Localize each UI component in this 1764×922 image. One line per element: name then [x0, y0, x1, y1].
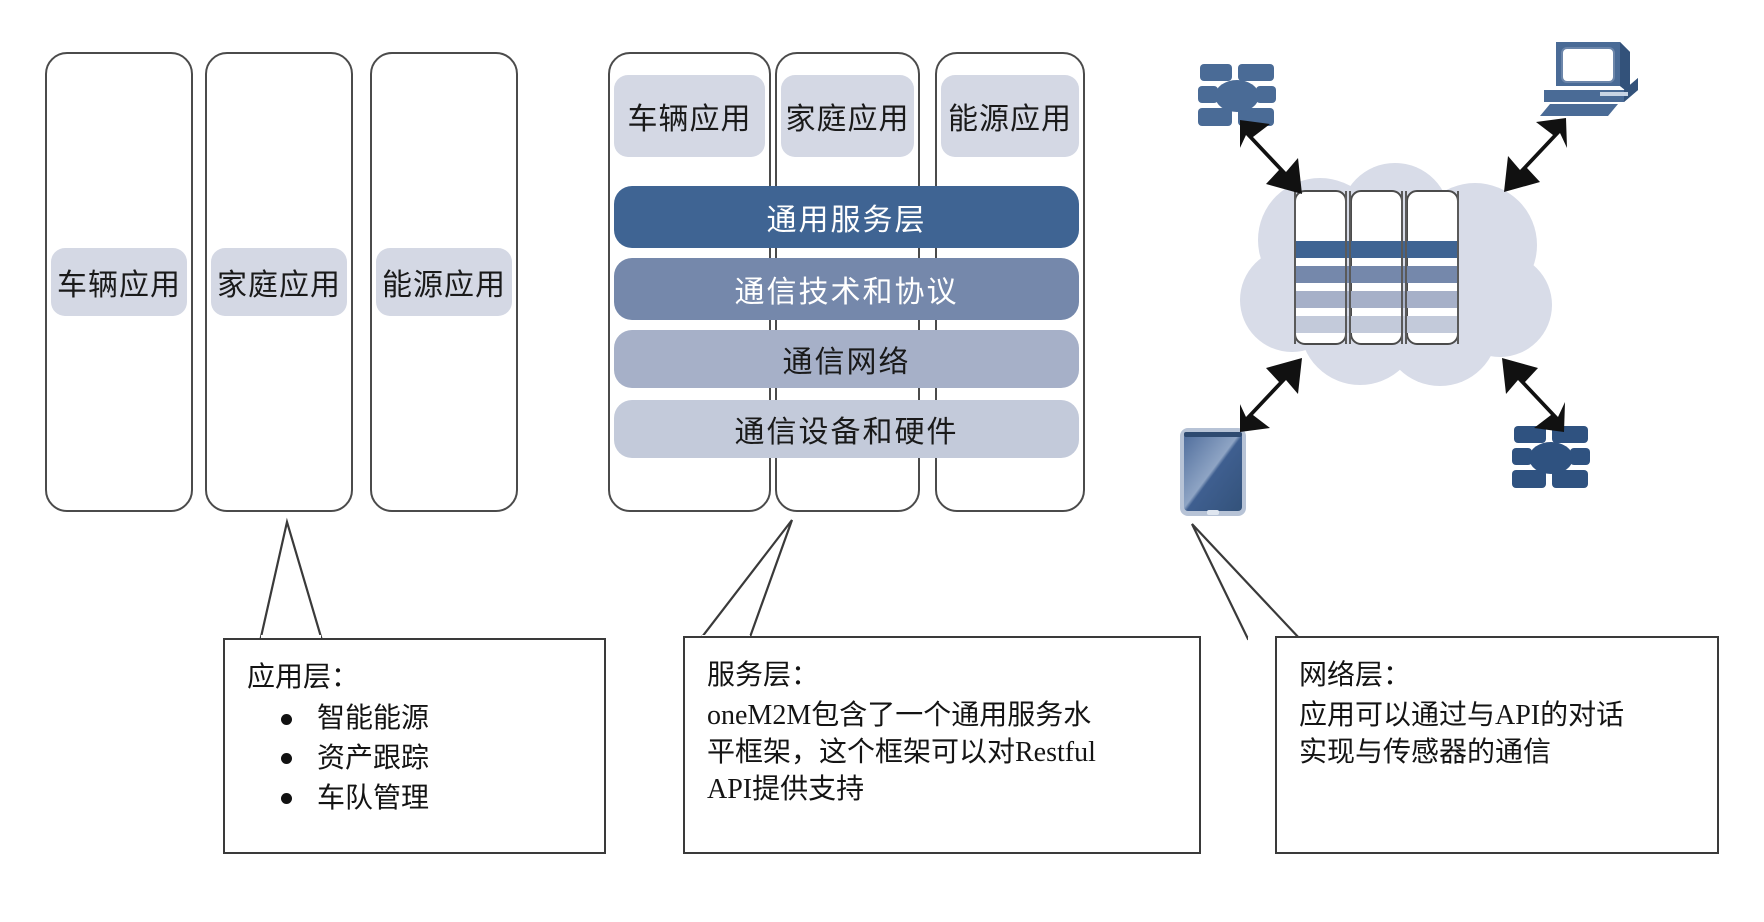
app-column-label-3: 能源应用 [376, 248, 512, 316]
mini-bar-3 [1296, 291, 1457, 308]
service-bar-4: 通信设备和硬件 [614, 400, 1079, 458]
service-bar-3: 通信网络 [614, 330, 1079, 388]
list-item: 智能能源 [281, 699, 584, 739]
arrow-topright [1470, 118, 1580, 208]
mini-column-divider-1 [1345, 191, 1347, 344]
mini-column-divider-4 [1405, 191, 1407, 344]
callout-line: API提供支持 [707, 771, 1179, 808]
mini-bar-4 [1296, 316, 1457, 333]
desktop-pc-icon [1538, 32, 1648, 132]
callout-line: 应用可以通过与API的对话 [1299, 697, 1697, 734]
app-column-label-2: 家庭应用 [211, 248, 347, 316]
mini-bar-2 [1296, 266, 1457, 283]
arrow-topleft [1240, 120, 1360, 210]
arrow-bottomright [1468, 352, 1580, 447]
callout-title: 应用层： [247, 660, 584, 695]
svc-column-label-1: 车辆应用 [614, 75, 765, 157]
arrow-bottomleft [1240, 352, 1360, 447]
callout-service-layer: 服务层： oneM2M包含了一个通用服务水 平框架，这个框架可以对Restful… [683, 636, 1201, 854]
callout-title: 服务层： [707, 658, 1179, 693]
svc-column-label-2: 家庭应用 [781, 75, 914, 157]
tablet-icon [1178, 426, 1248, 518]
diagram-canvas: 车辆应用 家庭应用 能源应用 车辆应用 家庭应用 能源应用 通用服务层 通信技术… [0, 0, 1764, 922]
service-bar-1: 通用服务层 [614, 186, 1079, 248]
callout-line: 平框架，这个框架可以对Restful [707, 734, 1179, 771]
service-bar-2: 通信技术和协议 [614, 258, 1079, 320]
callout-tail-application [200, 510, 450, 640]
callout-title: 网络层： [1299, 658, 1697, 693]
callout-tail-network [1170, 514, 1460, 642]
mini-stack-right-edge [1457, 191, 1459, 344]
mini-bar-1 [1296, 241, 1457, 258]
mini-column-divider-2 [1349, 191, 1351, 344]
list-item: 车队管理 [281, 779, 584, 819]
mini-stack-left-edge [1294, 191, 1296, 344]
callout-line: oneM2M包含了一个通用服务水 [707, 697, 1179, 734]
callout-bullet-list: 智能能源 资产跟踪 车队管理 [247, 699, 584, 818]
callout-network-layer: 网络层： 应用可以通过与API的对话 实现与传感器的通信 [1275, 636, 1719, 854]
callout-application-layer: 应用层： 智能能源 资产跟踪 车队管理 [223, 638, 606, 854]
app-column-label-1: 车辆应用 [51, 248, 187, 316]
callout-line: 实现与传感器的通信 [1299, 734, 1697, 771]
callout-tail-service [640, 508, 920, 640]
mini-column-divider-3 [1401, 191, 1403, 344]
list-item: 资产跟踪 [281, 739, 584, 779]
svc-column-label-3: 能源应用 [941, 75, 1079, 157]
